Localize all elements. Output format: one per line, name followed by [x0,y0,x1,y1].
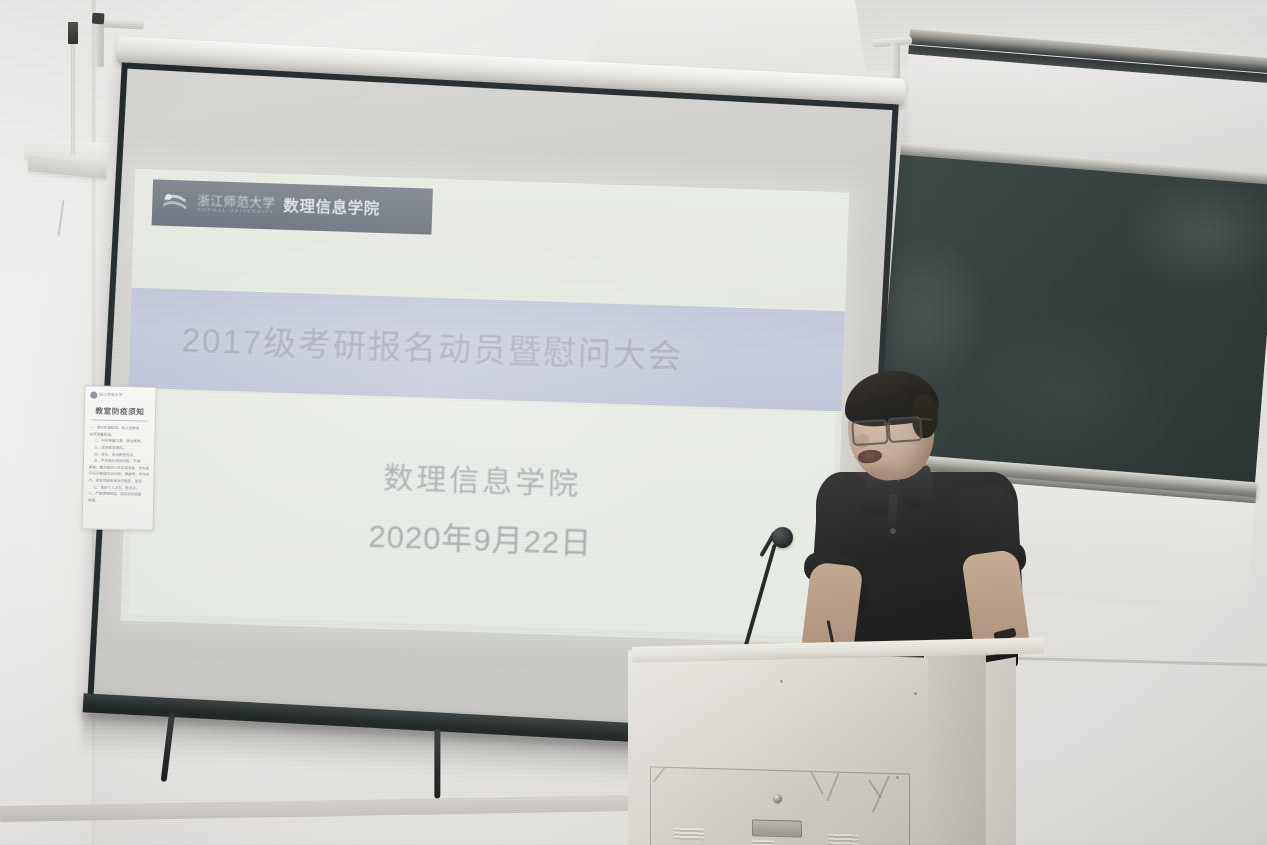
lectern-side-far [982,657,1016,845]
speaker-shirt-button [890,528,896,534]
wall-conduit [71,25,75,155]
lectern-vent [674,828,704,841]
logo-university-en: NORMAL UNIVERSITY [197,208,275,215]
covid-notice-poster: 浙江师范大学 教室防疫须知 一、落实体温检测，每人进教室 前须测量体温。 二、科… [82,385,157,530]
screen-bracket-cap-left [92,13,105,25]
speaker-person [800,368,1060,668]
lectern-vent [828,834,858,845]
projected-slide: 浙江师范大学 NORMAL UNIVERSITY 数理信息学院 2017级考研报… [120,169,849,644]
lectern-lock-icon[interactable] [773,794,782,803]
lectern-screw [896,776,899,779]
speaker-chin-shadow [852,460,908,482]
conduit-junction-box [68,22,78,44]
university-wave-logo-icon [161,190,190,217]
logo-college-name: 数理信息学院 [283,199,380,218]
poster-logo-row: 浙江师范大学 [90,390,150,400]
lectern-screw [914,692,917,695]
lectern-door-handle[interactable] [752,819,802,837]
slide-logo-text-group: 浙江师范大学 NORMAL UNIVERSITY [197,195,276,216]
poster-line: 制度。 [88,497,148,505]
screen-bracket-left [95,23,104,67]
poster-org-name: 浙江师范大学 [99,393,122,398]
glasses-lens-right-icon [887,416,923,443]
slide-logo-bar: 浙江师范大学 NORMAL UNIVERSITY 数理信息学院 [152,179,433,234]
lectern[interactable] [628,642,1048,845]
screen-bracket-right [891,42,900,82]
classroom-photo-scene: 浙江师范大学 NORMAL UNIVERSITY 数理信息学院 2017级考研报… [0,0,1267,845]
lectern-screw [780,680,783,683]
poster-logo-icon [90,391,97,398]
lectern-side-panel [924,647,986,845]
microphone-capsule-icon[interactable] [772,527,793,548]
lectern-vent [752,840,774,845]
poster-title: 教室防疫须知 [90,405,150,417]
poster-divider [92,419,148,421]
